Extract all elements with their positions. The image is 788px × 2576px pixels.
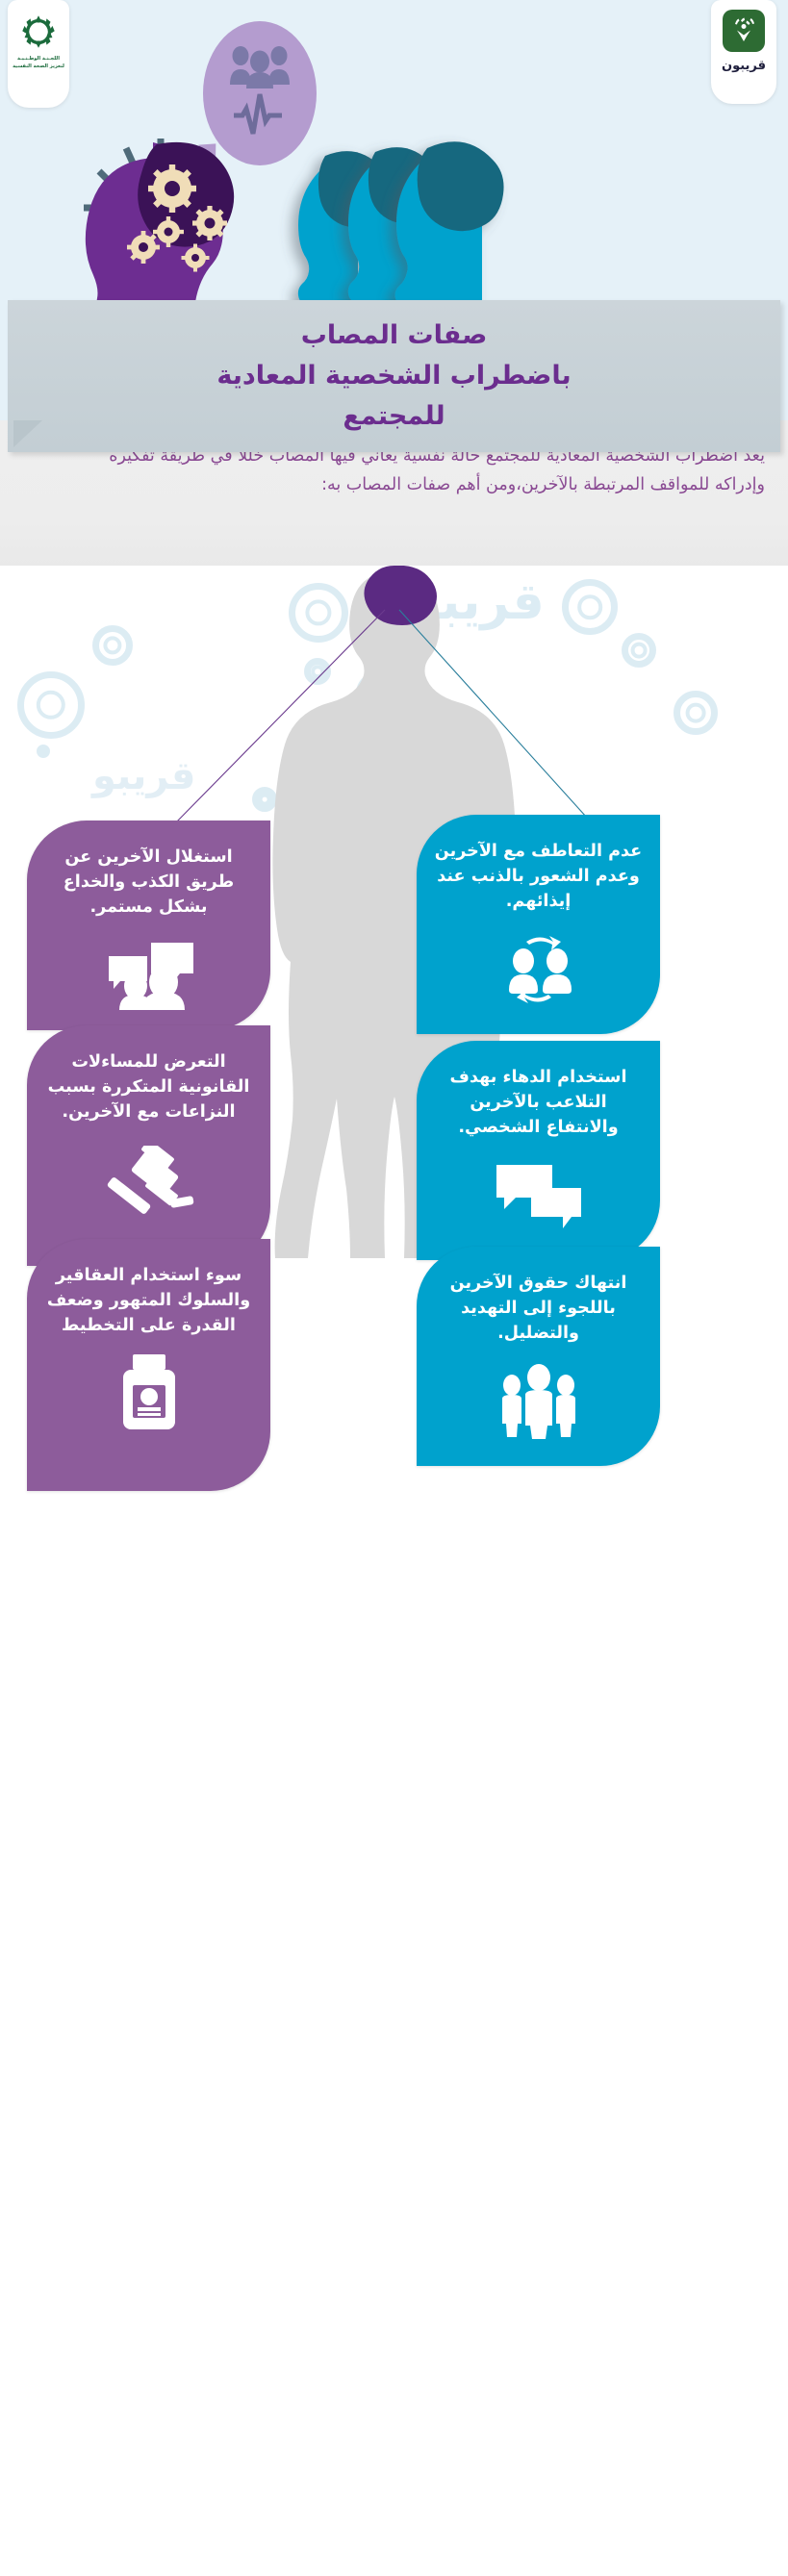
page-title-banner: صفات المصاب باضطراب الشخصية المعادية للم… bbox=[8, 300, 780, 452]
traits-cards-section: قريبو قريبو عدم التعاطف مع الآخرين وعدم … bbox=[0, 566, 788, 2576]
gavel-icon bbox=[103, 1143, 195, 1218]
trait-card-no-empathy[interactable]: عدم التعاطف مع الآخرين وعدم الشعور بالذن… bbox=[417, 815, 660, 1034]
committee-emblem-icon bbox=[20, 13, 57, 50]
speech-bubbles-icon bbox=[493, 1158, 585, 1233]
group-people-icon bbox=[228, 42, 292, 88]
two-people-cycle-icon bbox=[497, 932, 580, 1007]
trait-card-text: انتهاك حقوق الآخرين باللجوء إلى التهديد … bbox=[434, 1272, 643, 1347]
page-title: صفات المصاب باضطراب الشخصية المعادية للم… bbox=[33, 316, 755, 437]
trait-card-legal-accountability[interactable]: التعرض للمساءلات القانونية المتكررة بسبب… bbox=[27, 1025, 270, 1266]
trait-card-text: سوء استخدام العقاقير والسلوك المتهور وضع… bbox=[44, 1264, 253, 1339]
person-rays-icon bbox=[729, 16, 758, 45]
trait-card-exploiting-others[interactable]: استغلال الآخرين عن طريق الكذب والخداع بش… bbox=[27, 821, 270, 1030]
trait-card-text: التعرض للمساءلات القانونية المتكررة بسبب… bbox=[44, 1050, 253, 1125]
trait-card-violating-rights[interactable]: انتهاك حقوق الآخرين باللجوء إلى التهديد … bbox=[417, 1247, 660, 1466]
qareeboon-logo-label: قريبون bbox=[722, 59, 766, 73]
pill-bottle-icon bbox=[110, 1356, 189, 1431]
trait-card-text: استخدام الدهاء بهدف التلاعب بالآخرين وال… bbox=[434, 1066, 643, 1141]
trait-card-cunning-manipulation[interactable]: استخدام الدهاء بهدف التلاعب بالآخرين وال… bbox=[417, 1041, 660, 1260]
qareeboon-logo: قريبون bbox=[711, 0, 776, 104]
banner-fold-decoration bbox=[13, 420, 42, 447]
heartbeat-pulse-icon bbox=[234, 92, 288, 135]
trait-card-text: استغلال الآخرين عن طريق الكذب والخداع بش… bbox=[44, 846, 253, 921]
trait-card-drug-misuse[interactable]: سوء استخدام العقاقير والسلوك المتهور وضع… bbox=[27, 1239, 270, 1491]
committee-logo-text: اللجـنـة الوطـنـيـة لتعزيز الصحة النفسية bbox=[12, 56, 65, 71]
national-committee-logo: اللجـنـة الوطـنـيـة لتعزيز الصحة النفسية bbox=[8, 0, 69, 108]
trait-card-text: عدم التعاطف مع الآخرين وعدم الشعور بالذن… bbox=[434, 840, 643, 915]
two-people-speech-bubbles-icon bbox=[101, 938, 197, 1013]
three-people-icon bbox=[496, 1364, 582, 1439]
qareeboon-mark-icon bbox=[723, 10, 765, 52]
